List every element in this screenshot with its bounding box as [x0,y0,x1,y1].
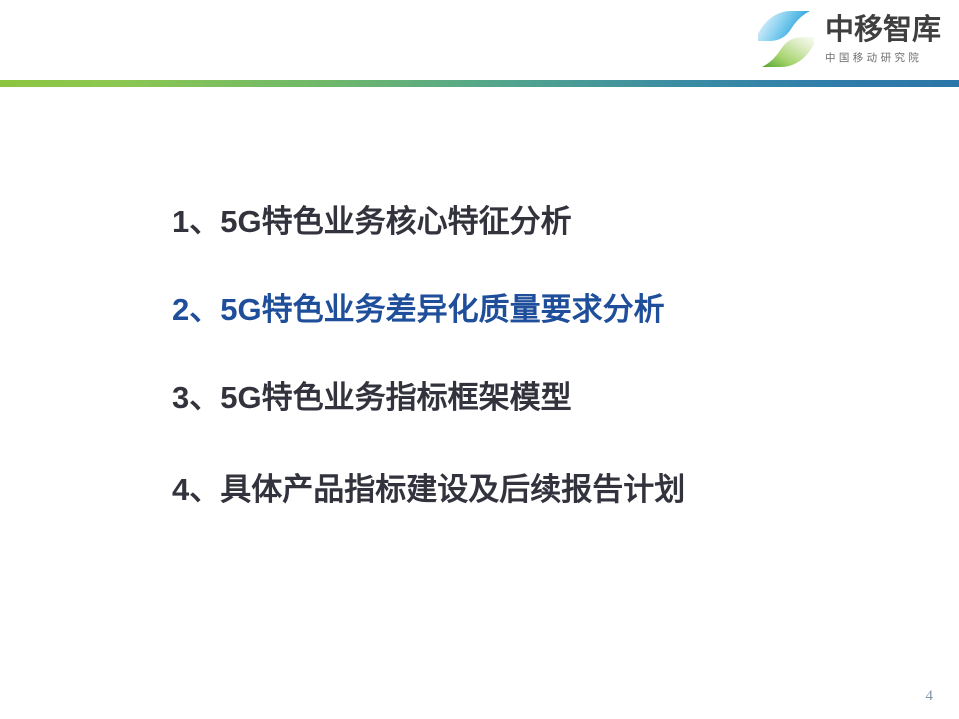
agenda-item-2[interactable]: 2、5G特色业务差异化质量要求分析 [172,293,872,327]
agenda-list: 1、5G特色业务核心特征分析 2、5G特色业务差异化质量要求分析 3、5G特色业… [172,205,872,507]
logo-title: 中移智库 [825,15,941,45]
zhongyi-zhiku-swoosh-logo-icon [755,8,817,70]
header-gradient-rule [0,80,959,87]
logo-lockup: 中移智库 中国移动研究院 [755,8,941,70]
logo-subtitle: 中国移动研究院 [825,50,941,65]
logo-text-block: 中移智库 中国移动研究院 [825,13,941,64]
agenda-item-4[interactable]: 4、具体产品指标建设及后续报告计划 [172,473,872,507]
agenda-item-1[interactable]: 1、5G特色业务核心特征分析 [172,205,872,239]
page-number: 4 [926,688,934,705]
agenda-item-3[interactable]: 3、5G特色业务指标框架模型 [172,381,872,415]
slide-canvas: 中移智库 中国移动研究院 1、5G特色业务核心特征分析 2、5G特色业务差异化质… [0,0,959,719]
